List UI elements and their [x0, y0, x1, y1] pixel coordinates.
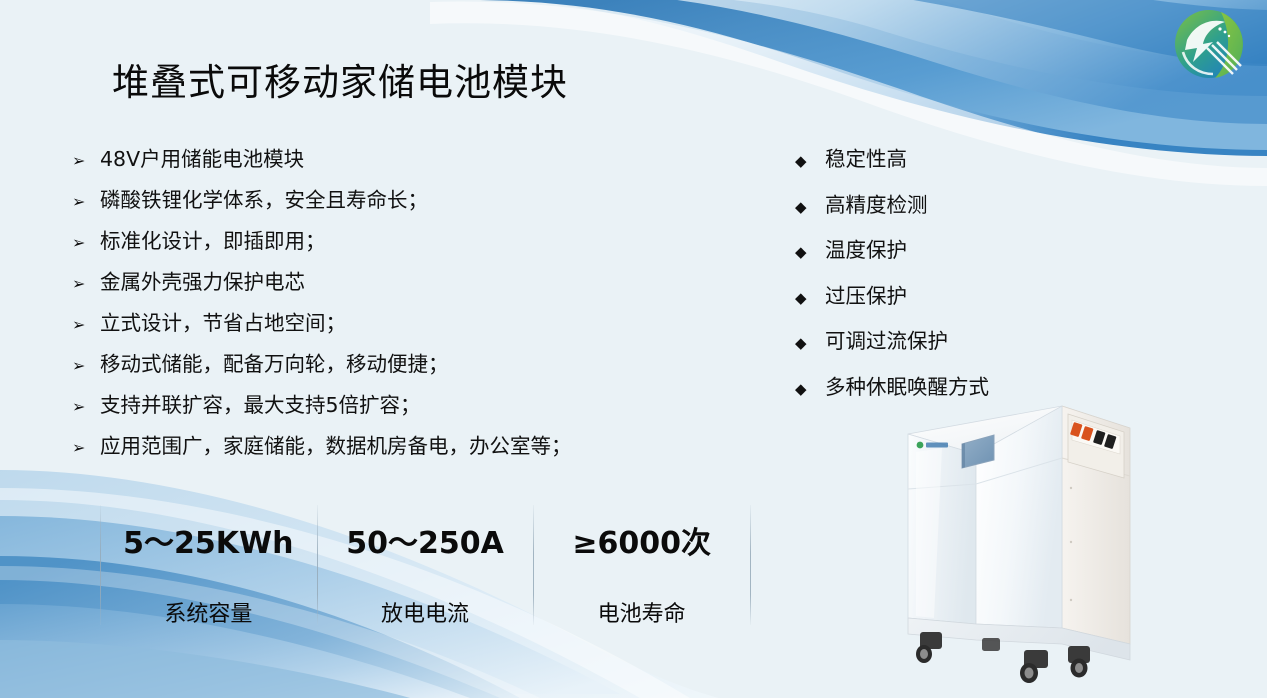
stat-divider	[750, 505, 751, 625]
list-item-label: 立式设计，节省占地空间；	[100, 312, 346, 336]
arrow-bullet-icon: ➢	[72, 317, 100, 333]
diamond-bullet-icon: ◆	[795, 154, 825, 169]
arrow-bullet-icon: ➢	[72, 153, 100, 169]
company-logo-icon	[1163, 4, 1255, 84]
list-item-label: 稳定性高	[825, 148, 907, 172]
list-item: ➢ 应用范围广，家庭储能，数据机房备电，办公室等；	[72, 435, 712, 459]
list-item: ◆ 温度保护	[795, 239, 1095, 263]
page-title: 堆叠式可移动家储电池模块	[112, 52, 568, 106]
stat-battery-life: ≥6000次 电池寿命	[533, 505, 750, 625]
list-item-label: 应用范围广，家庭储能，数据机房备电，办公室等；	[100, 435, 572, 459]
list-item: ➢ 金属外壳强力保护电芯	[72, 271, 712, 295]
list-item-label: 移动式储能，配备万向轮，移动便捷；	[100, 353, 449, 377]
slide-root: 堆叠式可移动家储电池模块 ➢ 48V户用储能电池模块 ➢ 磷酸铁锂化学体系，安全…	[0, 0, 1267, 698]
diamond-bullet-icon: ◆	[795, 291, 825, 306]
diamond-bullet-icon: ◆	[795, 200, 825, 215]
list-item-label: 磷酸铁锂化学体系，安全且寿命长；	[100, 189, 428, 213]
list-item-label: 支持并联扩容，最大支持5倍扩容；	[100, 394, 421, 418]
list-item-label: 温度保护	[825, 239, 907, 263]
arrow-bullet-icon: ➢	[72, 358, 100, 374]
stat-value: ≥6000次	[572, 518, 711, 562]
list-item-label: 48V户用储能电池模块	[100, 148, 304, 172]
feature-list-left: ➢ 48V户用储能电池模块 ➢ 磷酸铁锂化学体系，安全且寿命长； ➢ 标准化设计…	[72, 148, 712, 477]
list-item: ➢ 支持并联扩容，最大支持5倍扩容；	[72, 394, 712, 418]
list-item: ➢ 磷酸铁锂化学体系，安全且寿命长；	[72, 189, 712, 213]
list-item-label: 高精度检测	[825, 194, 928, 218]
list-item: ◆ 过压保护	[795, 285, 1095, 309]
stat-value: 5〜25KWh	[123, 518, 293, 562]
list-item: ➢ 移动式储能，配备万向轮，移动便捷；	[72, 353, 712, 377]
arrow-bullet-icon: ➢	[72, 399, 100, 415]
list-item-label: 可调过流保护	[825, 330, 948, 354]
list-item: ◆ 稳定性高	[795, 148, 1095, 172]
arrow-bullet-icon: ➢	[72, 276, 100, 292]
list-item-label: 过压保护	[825, 285, 907, 309]
stat-value: 50〜250A	[346, 518, 504, 562]
list-item: ◆ 高精度检测	[795, 194, 1095, 218]
list-item: ➢ 标准化设计，即插即用；	[72, 230, 712, 254]
key-specs-row: 5〜25KWh 系统容量 50〜250A 放电电流 ≥6000次 电池寿命	[100, 505, 750, 625]
list-item: ◆ 可调过流保护	[795, 330, 1095, 354]
arrow-bullet-icon: ➢	[72, 235, 100, 251]
list-item-label: 标准化设计，即插即用；	[100, 230, 326, 254]
diamond-bullet-icon: ◆	[795, 336, 825, 351]
stat-discharge-current: 50〜250A 放电电流	[317, 505, 534, 625]
diamond-bullet-icon: ◆	[795, 382, 825, 397]
stat-label: 系统容量	[164, 596, 252, 628]
product-image	[872, 392, 1140, 692]
list-item: ➢ 立式设计，节省占地空间；	[72, 312, 712, 336]
stat-label: 电池寿命	[598, 596, 686, 628]
stat-label: 放电电流	[381, 596, 469, 628]
arrow-bullet-icon: ➢	[72, 440, 100, 456]
diamond-bullet-icon: ◆	[795, 245, 825, 260]
stat-system-capacity: 5〜25KWh 系统容量	[100, 505, 317, 625]
arrow-bullet-icon: ➢	[72, 194, 100, 210]
list-item: ➢ 48V户用储能电池模块	[72, 148, 712, 172]
feature-list-right: ◆ 稳定性高 ◆ 高精度检测 ◆ 温度保护 ◆ 过压保护 ◆ 可调过流保护 ◆ …	[795, 148, 1095, 421]
list-item-label: 金属外壳强力保护电芯	[100, 271, 305, 295]
